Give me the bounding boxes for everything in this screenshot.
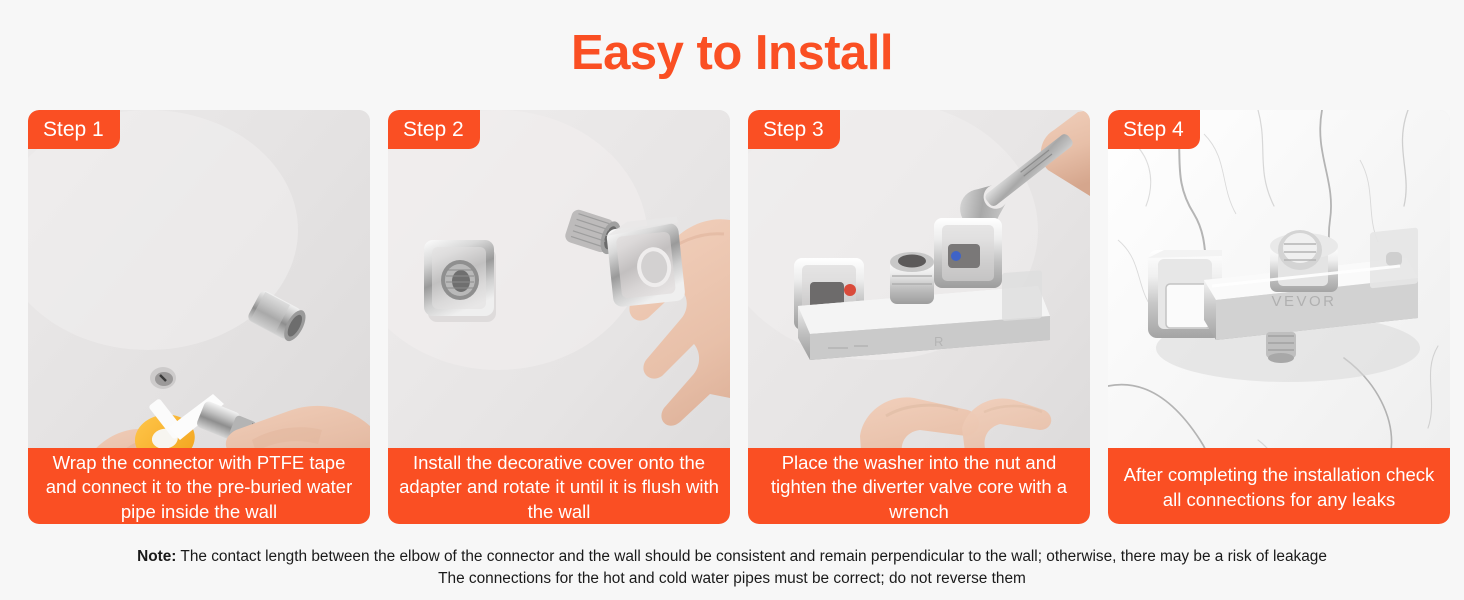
page-title: Easy to Install (0, 22, 1464, 84)
note-line-1-text: The contact length between the elbow of … (176, 548, 1326, 565)
step-caption-3-text: Place the washer into the nut and tighte… (756, 451, 1082, 524)
easy-to-install-infographic: Easy to Install (0, 0, 1464, 600)
note-label: Note: (137, 548, 176, 565)
step-badge-3: Step 3 (748, 110, 840, 149)
step-card-4[interactable]: VEVOR (1108, 110, 1450, 524)
note-block: Note: The contact length between the elb… (0, 546, 1464, 589)
step-caption-1: Wrap the connector with PTFE tape and co… (28, 448, 370, 524)
step-badge-4: Step 4 (1108, 110, 1200, 149)
svg-text:R: R (934, 334, 945, 349)
step-badge-1: Step 1 (28, 110, 120, 149)
step-card-3[interactable]: R Step 3 (748, 110, 1090, 524)
step-caption-3: Place the washer into the nut and tighte… (748, 448, 1090, 524)
step-caption-2-text: Install the decorative cover onto the ad… (396, 451, 722, 524)
step-card-1[interactable]: Step 1 Wrap the connector with PTFE tape… (28, 110, 370, 524)
note-line-1: Note: The contact length between the elb… (0, 546, 1464, 568)
step-caption-1-text: Wrap the connector with PTFE tape and co… (36, 451, 362, 524)
step-caption-4: After completing the installation check … (1108, 448, 1450, 524)
product-brand-text: VEVOR (1271, 293, 1336, 310)
step-caption-4-text: After completing the installation check … (1116, 463, 1442, 512)
step-caption-2: Install the decorative cover onto the ad… (388, 448, 730, 524)
steps-row: Step 1 Wrap the connector with PTFE tape… (28, 110, 1436, 524)
step-card-2[interactable]: Step 2 Install the decorative cover onto… (388, 110, 730, 524)
note-line-2: The connections for the hot and cold wat… (0, 568, 1464, 590)
step-badge-2: Step 2 (388, 110, 480, 149)
